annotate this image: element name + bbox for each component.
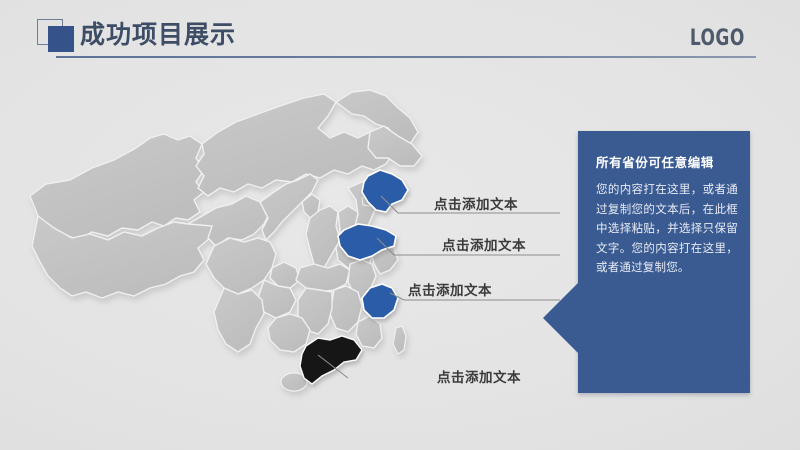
china-map[interactable] xyxy=(18,88,448,424)
slide-canvas: 成功项目展示 LOGO xyxy=(0,0,800,450)
slide-header: 成功项目展示 LOGO xyxy=(0,0,800,72)
callout-label-1[interactable]: 点击添加文本 xyxy=(434,193,518,213)
page-title: 成功项目展示 xyxy=(80,18,236,52)
info-panel-pointer-icon xyxy=(543,283,578,353)
callout-label-3[interactable]: 点击添加文本 xyxy=(408,279,492,299)
logo: LOGO xyxy=(690,26,745,51)
decorative-square-filled-icon xyxy=(48,26,74,52)
info-panel[interactable]: 所有省份可任意编辑 您的内容打在这里，或者通过复制您的文本后，在此框中选择粘贴，… xyxy=(578,131,750,393)
info-panel-heading: 所有省份可任意编辑 xyxy=(596,155,738,172)
info-panel-body[interactable]: 您的内容打在这里，或者通过复制您的文本后，在此框中选择粘贴，并选择只保留文字。您… xyxy=(596,181,738,279)
callout-label-4[interactable]: 点击添加文本 xyxy=(437,366,521,386)
china-map-svg xyxy=(18,88,448,424)
province-guangdong[interactable] xyxy=(300,336,362,384)
header-divider xyxy=(56,56,756,58)
callout-label-2[interactable]: 点击添加文本 xyxy=(442,234,526,254)
